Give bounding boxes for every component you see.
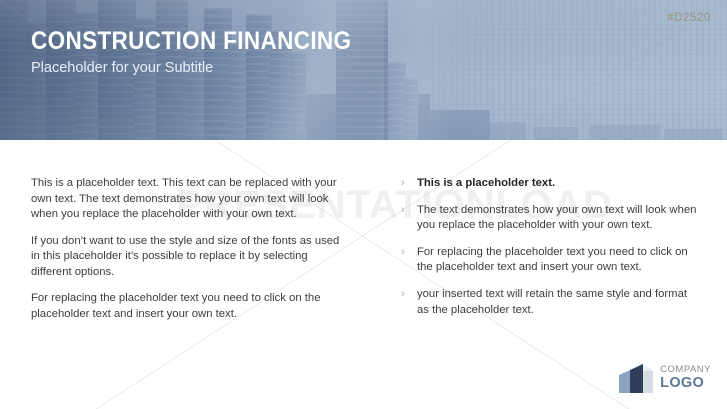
chevron-right-icon: ›: [401, 176, 417, 192]
chevron-right-icon: ›: [401, 203, 417, 219]
chevron-right-icon: ›: [401, 287, 417, 303]
left-text-column[interactable]: This is a placeholder text. This text ca…: [31, 176, 349, 323]
company-logo-line1: COMPANY: [660, 365, 711, 375]
right-bullet-column[interactable]: › This is a placeholder text. › The text…: [401, 176, 701, 318]
page-subtitle: Placeholder for your Subtitle: [31, 60, 387, 77]
content-area: PRESENTATIONLOAD This is a placeholder t…: [0, 140, 727, 409]
paragraph: This is a placeholder text. This text ca…: [31, 176, 349, 223]
list-item[interactable]: › your inserted text will retain the sam…: [401, 287, 701, 318]
paragraph: For replacing the placeholder text you n…: [31, 291, 349, 322]
header-banner: Construction Financing Placeholder for y…: [0, 0, 727, 140]
slide-canvas: Construction Financing Placeholder for y…: [0, 0, 727, 409]
list-item[interactable]: › For replacing the placeholder text you…: [401, 245, 701, 276]
list-item-label: This is a placeholder text.: [417, 176, 701, 192]
company-logo-line2: LOGO: [660, 376, 711, 391]
list-item-label: For replacing the placeholder text you n…: [417, 245, 701, 276]
list-item[interactable]: › This is a placeholder text.: [401, 176, 701, 192]
company-logo[interactable]: COMPANY LOGO: [619, 362, 711, 393]
chevron-right-icon: ›: [401, 245, 417, 261]
building-logo-icon: [619, 362, 653, 393]
page-title: Construction Financing: [31, 28, 351, 54]
paragraph: If you don’t want to use the style and s…: [31, 234, 349, 281]
reference-code: #D2520: [667, 12, 711, 24]
title-block: Construction Financing Placeholder for y…: [31, 28, 387, 77]
list-item[interactable]: › The text demonstrates how your own tex…: [401, 203, 701, 234]
company-logo-text: COMPANY LOGO: [660, 365, 711, 390]
list-item-label: your inserted text will retain the same …: [417, 287, 701, 318]
list-item-label: The text demonstrates how your own text …: [417, 203, 701, 234]
